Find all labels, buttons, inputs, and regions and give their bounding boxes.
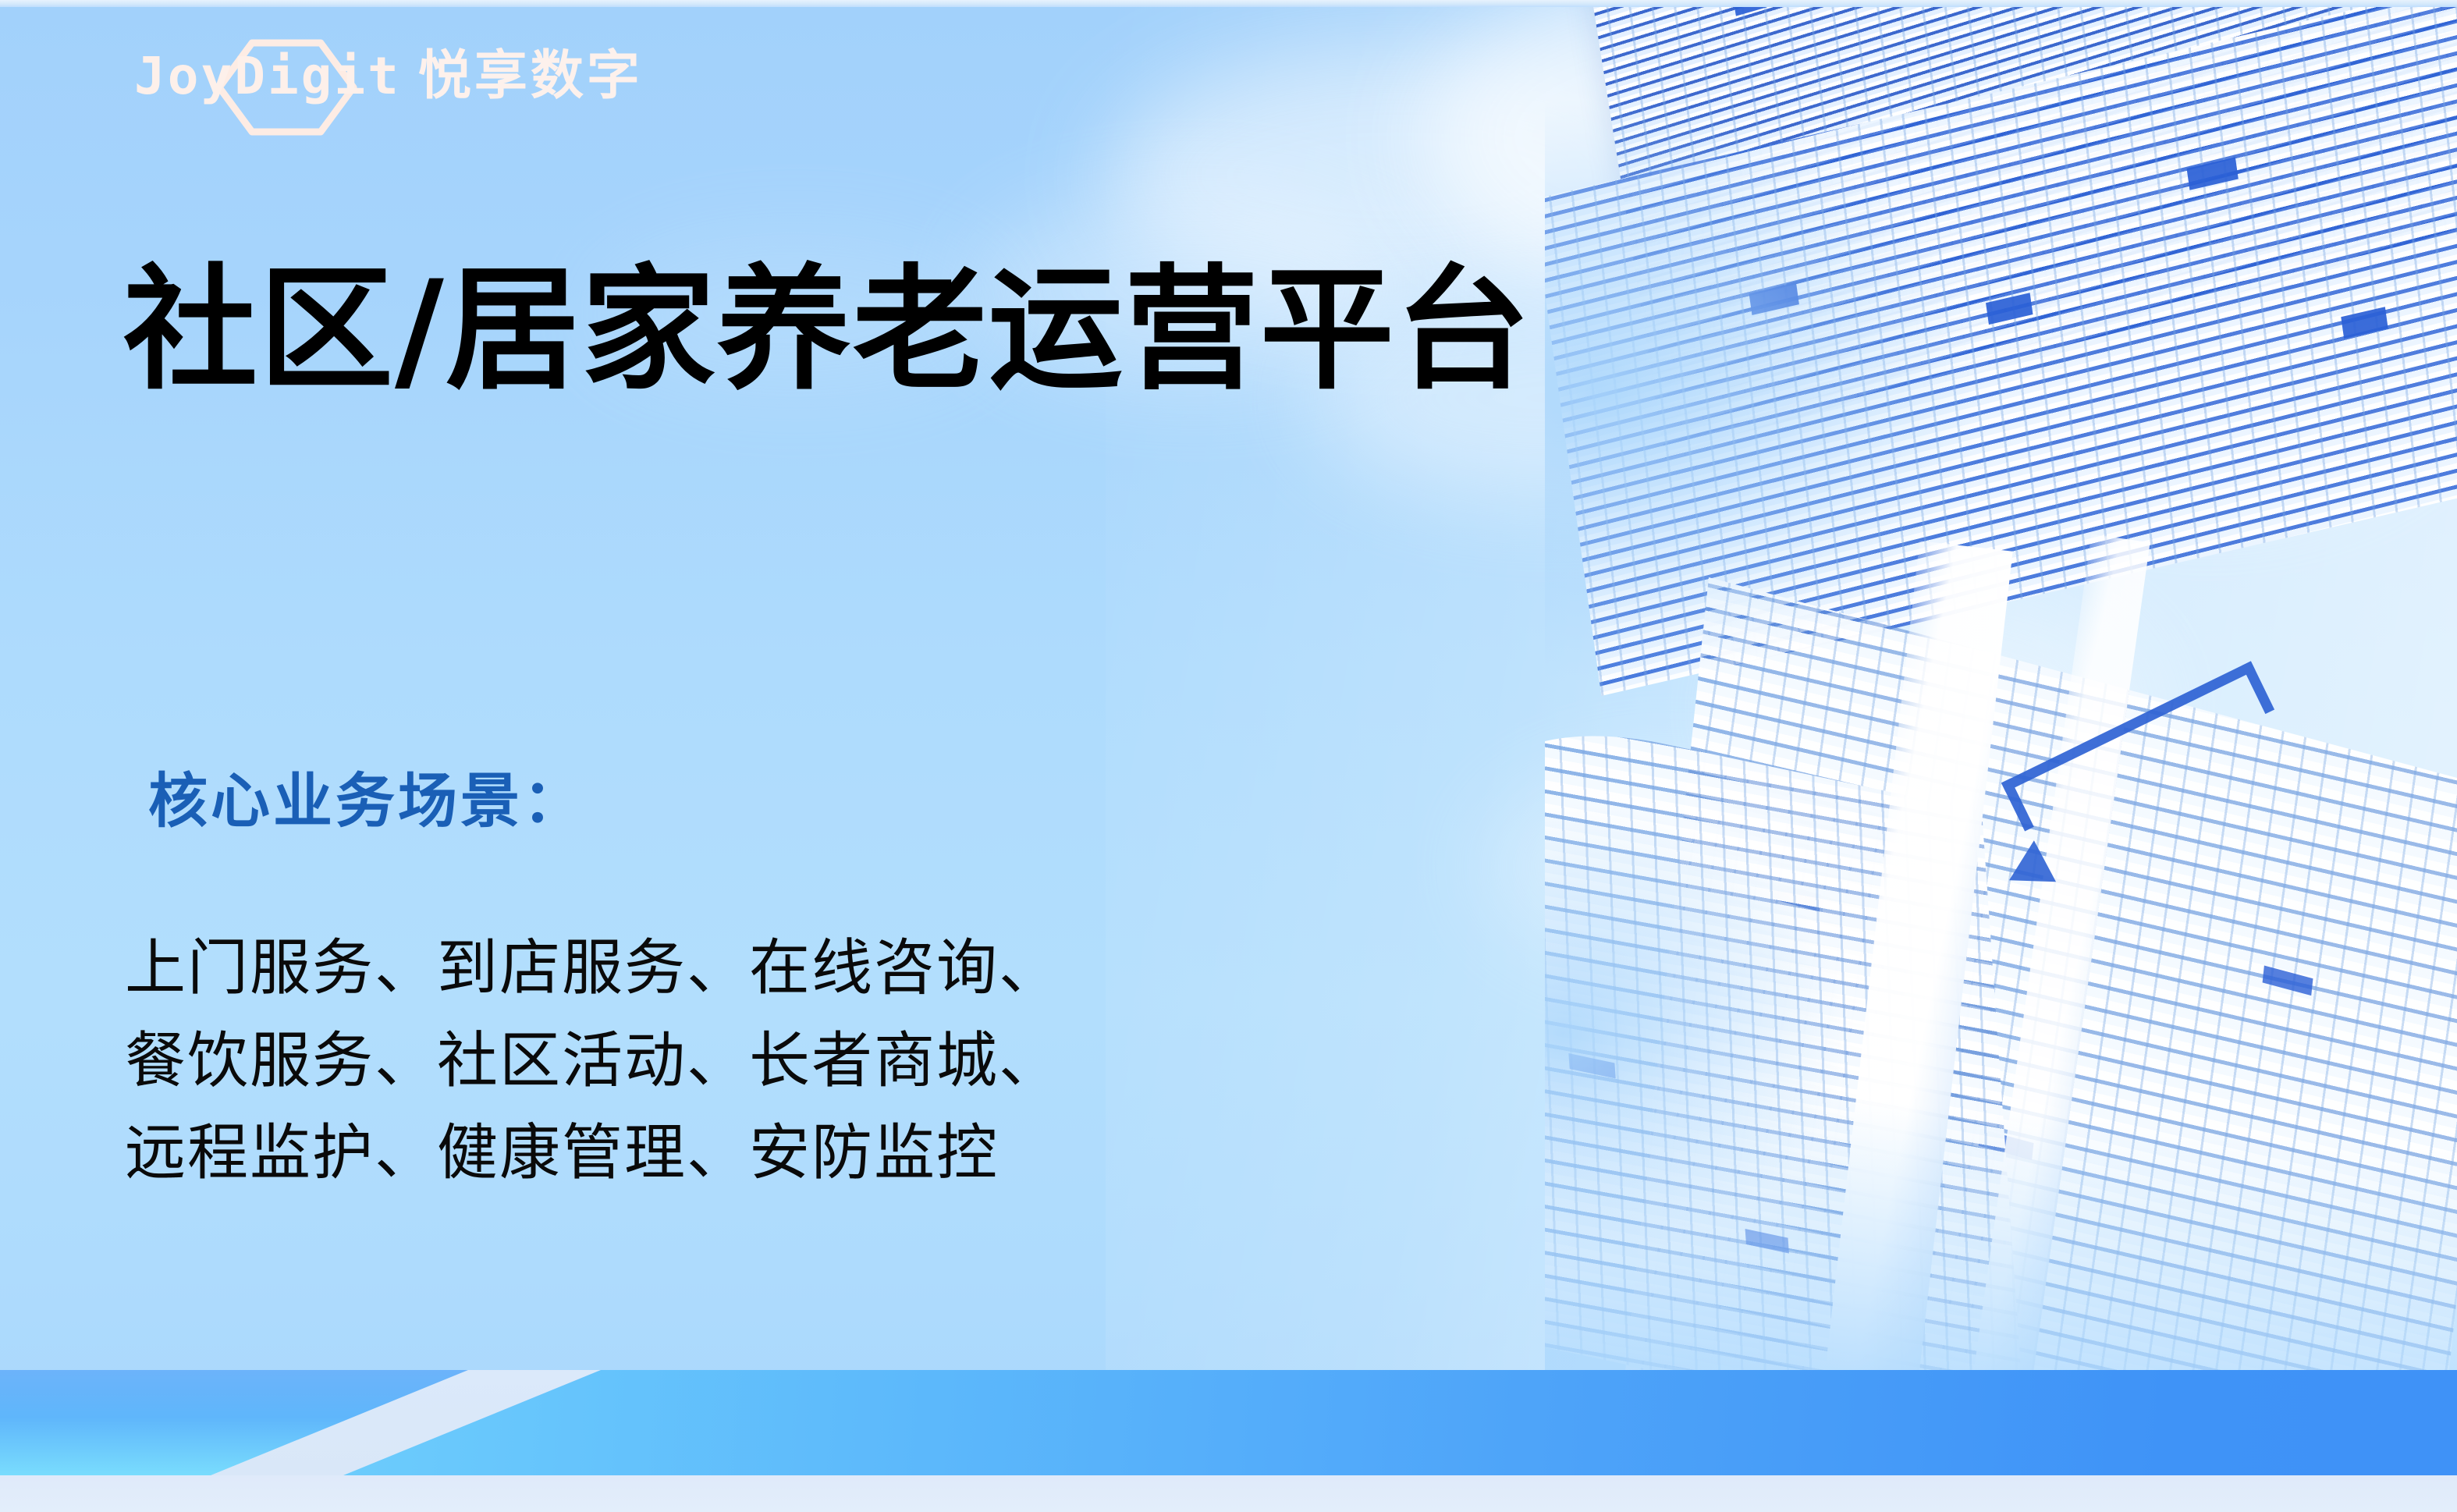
scenes-line: 餐饮服务、社区活动、长者商城、: [125, 1015, 1061, 1108]
ribbon-footer-strip: [0, 1475, 2457, 1512]
scenes-line: 上门服务、到店服务、在线咨询、: [125, 922, 1061, 1015]
business-scenes-list: 上门服务、到店服务、在线咨询、 餐饮服务、社区活动、长者商城、 远程监护、健康管…: [125, 922, 1061, 1200]
brand-logo[interactable]: JoyDigit 悦享数字: [134, 37, 680, 139]
slide-canvas: JoyDigit 悦享数字 社区/居家养老运营平台 核心业务场景： 上门服务、到…: [0, 0, 2457, 1512]
page-title: 社区/居家养老运营平台: [123, 257, 1532, 403]
scenes-line: 远程监护、健康管理、安防监控: [125, 1107, 1061, 1200]
brand-name-cn: 悦享数字: [418, 50, 643, 103]
section-subtitle: 核心业务场景：: [148, 768, 585, 834]
bottom-ribbon: [0, 1370, 2457, 1512]
brand-name-en: JoyDigit: [134, 51, 401, 102]
top-edge-strip: [0, 0, 2457, 7]
brand-logo-text: JoyDigit 悦享数字: [134, 50, 643, 103]
sky-right-wash: [1106, 0, 2457, 1512]
